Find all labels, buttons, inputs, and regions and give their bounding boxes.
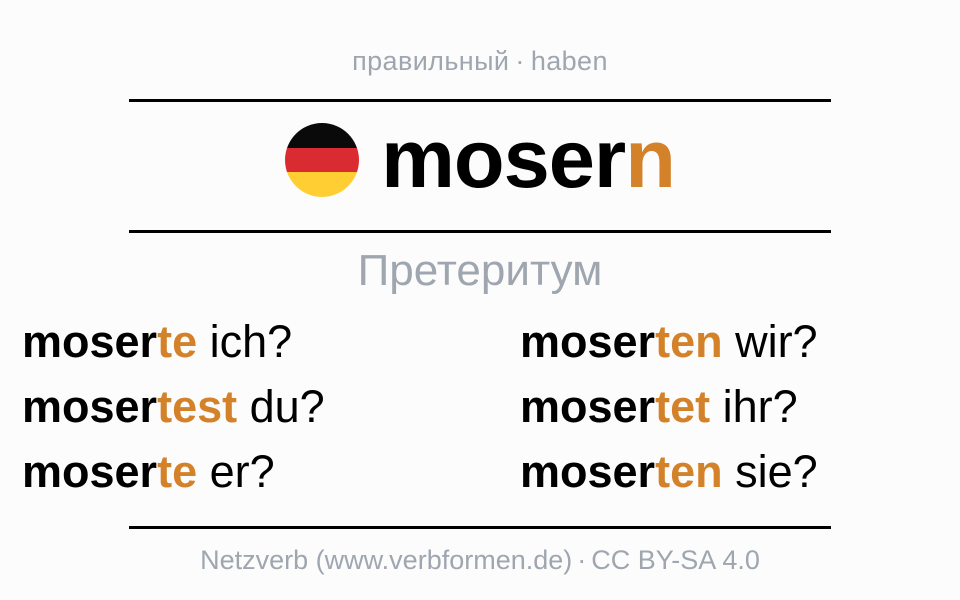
tense-heading: Претеритум <box>358 249 603 293</box>
header-meta: правильный·haben <box>352 48 608 75</box>
footer-attribution: Netzverb (www.verbformen.de)·CC BY-SA 4.… <box>200 547 760 574</box>
divider-top <box>129 99 831 102</box>
conjugation-item-er: moserte er? <box>0 445 480 500</box>
auxiliary-verb: haben <box>531 46 608 76</box>
form-stem: moser <box>520 316 655 367</box>
form-stem: moser <box>22 381 157 432</box>
form-pronoun: sie? <box>723 446 818 497</box>
verb-conjugation-card: правильный·haben mosern Претеритум moser… <box>0 0 960 600</box>
german-flag-icon <box>285 123 359 197</box>
conjugation-grid: moserte ich? moserten wir? mosertest du?… <box>0 315 960 500</box>
verb-title-ending: n <box>625 112 675 205</box>
verb-title: mosern <box>381 117 675 200</box>
footer-license: CC BY-SA 4.0 <box>591 545 760 575</box>
conjugation-item-du: mosertest du? <box>0 380 480 435</box>
form-pronoun: wir? <box>723 316 818 367</box>
form-ending: te <box>157 316 197 367</box>
form-stem: moser <box>22 446 157 497</box>
conjugation-item-ich: moserte ich? <box>0 315 480 370</box>
title-row: mosern <box>285 110 675 206</box>
form-pronoun: ich? <box>197 316 292 367</box>
form-stem: moser <box>520 381 655 432</box>
form-stem: moser <box>520 446 655 497</box>
conjugation-item-sie: moserten sie? <box>480 445 960 500</box>
form-ending: te <box>157 446 197 497</box>
flag-band-gold <box>285 172 359 197</box>
footer-source: Netzverb (www.verbformen.de) <box>200 545 572 575</box>
divider-bottom <box>129 526 831 529</box>
form-ending: test <box>157 381 237 432</box>
conjugation-item-ihr: mosertet ihr? <box>480 380 960 435</box>
form-pronoun: er? <box>197 446 275 497</box>
conjugation-item-wir: moserten wir? <box>480 315 960 370</box>
form-ending: ten <box>655 316 723 367</box>
verb-classification: правильный <box>352 46 509 76</box>
header-separator: · <box>509 46 530 76</box>
form-ending: ten <box>655 446 723 497</box>
form-pronoun: du? <box>237 381 325 432</box>
flag-band-red <box>285 148 359 173</box>
form-pronoun: ihr? <box>710 381 798 432</box>
verb-title-stem: moser <box>381 112 625 205</box>
footer-separator: · <box>572 545 591 575</box>
form-ending: tet <box>655 381 710 432</box>
divider-middle <box>129 230 831 233</box>
form-stem: moser <box>22 316 157 367</box>
flag-band-black <box>285 123 359 148</box>
